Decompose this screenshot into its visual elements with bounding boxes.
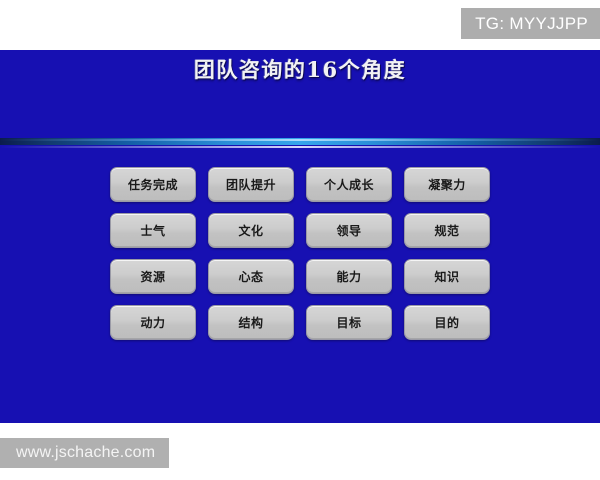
aspect-button[interactable]: 文化: [208, 213, 294, 248]
slide-title: 团队咨询的16个角度: [0, 54, 600, 84]
aspect-button-label: 目的: [434, 317, 459, 329]
aspect-button[interactable]: 知识: [404, 259, 490, 294]
aspect-button[interactable]: 士气: [110, 213, 196, 248]
presentation-slide: 任务完成 团队提升 个人成长 凝聚力 士气 文化 领导 规范 资源 心态 能: [0, 50, 600, 423]
title-divider: [0, 138, 600, 149]
aspect-button[interactable]: 个人成长: [306, 167, 392, 202]
aspect-button-label: 资源: [140, 271, 165, 283]
aspect-button-label: 个人成长: [324, 179, 374, 191]
aspect-button-label: 团队提升: [226, 179, 276, 191]
telegram-watermark-badge: TG: MYYJJPP: [461, 8, 600, 39]
aspect-button[interactable]: 规范: [404, 213, 490, 248]
site-watermark-text: www.jschache.com: [16, 444, 155, 462]
aspect-button-label: 文化: [238, 225, 263, 237]
divider-bar-underline: [0, 146, 600, 148]
aspect-button[interactable]: 资源: [110, 259, 196, 294]
aspect-button[interactable]: 任务完成: [110, 167, 196, 202]
aspect-button-label: 领导: [336, 225, 361, 237]
aspect-button-label: 结构: [238, 317, 263, 329]
aspect-button[interactable]: 能力: [306, 259, 392, 294]
aspect-button[interactable]: 目标: [306, 305, 392, 340]
site-watermark-badge: www.jschache.com: [0, 438, 169, 468]
divider-bar-gloss: [0, 139, 600, 141]
aspect-button-label: 心态: [238, 271, 263, 283]
aspect-button-label: 动力: [140, 317, 165, 329]
aspect-button[interactable]: 结构: [208, 305, 294, 340]
aspect-button-label: 凝聚力: [428, 179, 466, 191]
aspect-button-label: 目标: [336, 317, 361, 329]
aspect-button[interactable]: 团队提升: [208, 167, 294, 202]
aspect-button-label: 知识: [434, 271, 459, 283]
aspect-button-label: 规范: [434, 225, 459, 237]
aspect-button[interactable]: 领导: [306, 213, 392, 248]
aspect-button[interactable]: 凝聚力: [404, 167, 490, 202]
telegram-watermark-text: TG: MYYJJPP: [475, 14, 588, 34]
aspect-button[interactable]: 目的: [404, 305, 490, 340]
aspect-button-grid: 任务完成 团队提升 个人成长 凝聚力 士气 文化 领导 规范 资源 心态 能: [110, 167, 490, 340]
aspect-button-label: 任务完成: [128, 179, 178, 191]
aspect-button-label: 士气: [140, 225, 165, 237]
aspect-button[interactable]: 动力: [110, 305, 196, 340]
aspect-button-label: 能力: [336, 271, 361, 283]
aspect-button[interactable]: 心态: [208, 259, 294, 294]
